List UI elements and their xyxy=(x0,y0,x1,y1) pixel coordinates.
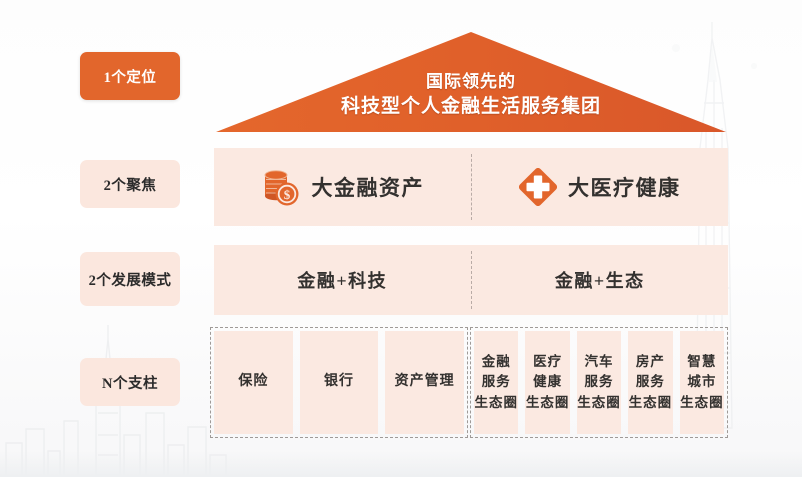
pillar-label: 银行 xyxy=(324,372,354,392)
pillar-smartcity-ecosystem[interactable]: 智慧城市生态圈 xyxy=(680,331,724,434)
pillar-label: 保险 xyxy=(238,372,268,392)
pillar-asset-management[interactable]: 资产管理 xyxy=(385,331,464,434)
rail-item-pillars[interactable]: N个支柱 xyxy=(80,358,180,406)
rail-item-label: N个支柱 xyxy=(102,372,158,393)
focus-cell-finance[interactable]: $ 大金融资产 xyxy=(214,148,471,226)
mode-label-fintech: 金融+科技 xyxy=(297,267,387,293)
pillar-label: 金融服务生态圈 xyxy=(474,352,518,413)
pillar-bank[interactable]: 银行 xyxy=(300,331,379,434)
mode-label-ecosystem: 金融+生态 xyxy=(555,267,645,293)
rail-item-label: 2个聚焦 xyxy=(104,174,157,195)
pillar-group-finance: 保险 银行 资产管理 xyxy=(210,327,468,438)
svg-text:$: $ xyxy=(283,187,290,202)
roof-triangle-shape xyxy=(214,30,728,134)
pillar-label: 医疗健康生态圈 xyxy=(526,352,570,413)
pillar-health-ecosystem[interactable]: 医疗健康生态圈 xyxy=(525,331,569,434)
focus-label-finance: 大金融资产 xyxy=(312,172,425,202)
pillar-insurance[interactable]: 保险 xyxy=(214,331,293,434)
rail-item-development-modes[interactable]: 2个发展模式 xyxy=(80,252,180,306)
pillar-finance-ecosystem[interactable]: 金融服务生态圈 xyxy=(474,331,518,434)
medical-cross-icon xyxy=(519,168,557,206)
mode-cell-ecosystem[interactable]: 金融+生态 xyxy=(472,245,729,315)
house-diagram-canvas: 1个定位 2个聚焦 2个发展模式 N个支柱 国际领先的 科技型个人金融生活服务集… xyxy=(0,0,802,477)
house-roof: 国际领先的 科技型个人金融生活服务集团 xyxy=(214,30,728,134)
modes-band: 金融+科技 金融+生态 xyxy=(214,245,728,315)
rail-item-focus[interactable]: 2个聚焦 xyxy=(80,160,180,208)
rail-item-label: 2个发展模式 xyxy=(89,269,172,290)
focus-label-health: 大医疗健康 xyxy=(568,172,681,202)
rail-item-positioning[interactable]: 1个定位 xyxy=(80,52,180,100)
pillar-auto-ecosystem[interactable]: 汽车服务生态圈 xyxy=(577,331,621,434)
focus-band: $ 大金融资产 大医疗健康 xyxy=(214,148,728,226)
pillar-label: 汽车服务生态圈 xyxy=(577,352,621,413)
pillar-label: 房产服务生态圈 xyxy=(629,352,673,413)
pillar-realestate-ecosystem[interactable]: 房产服务生态圈 xyxy=(628,331,672,434)
focus-cell-health[interactable]: 大医疗健康 xyxy=(472,148,729,226)
rail-item-label: 1个定位 xyxy=(104,66,157,87)
pillar-label: 智慧城市生态圈 xyxy=(680,352,724,413)
bottom-gradient-band xyxy=(0,451,802,477)
coin-stack-icon: $ xyxy=(261,168,301,206)
pillar-label: 资产管理 xyxy=(395,372,455,392)
mode-cell-fintech[interactable]: 金融+科技 xyxy=(214,245,471,315)
pillar-group-ecosystem: 金融服务生态圈 医疗健康生态圈 汽车服务生态圈 房产服务生态圈 智慧城市生态圈 xyxy=(470,327,728,438)
